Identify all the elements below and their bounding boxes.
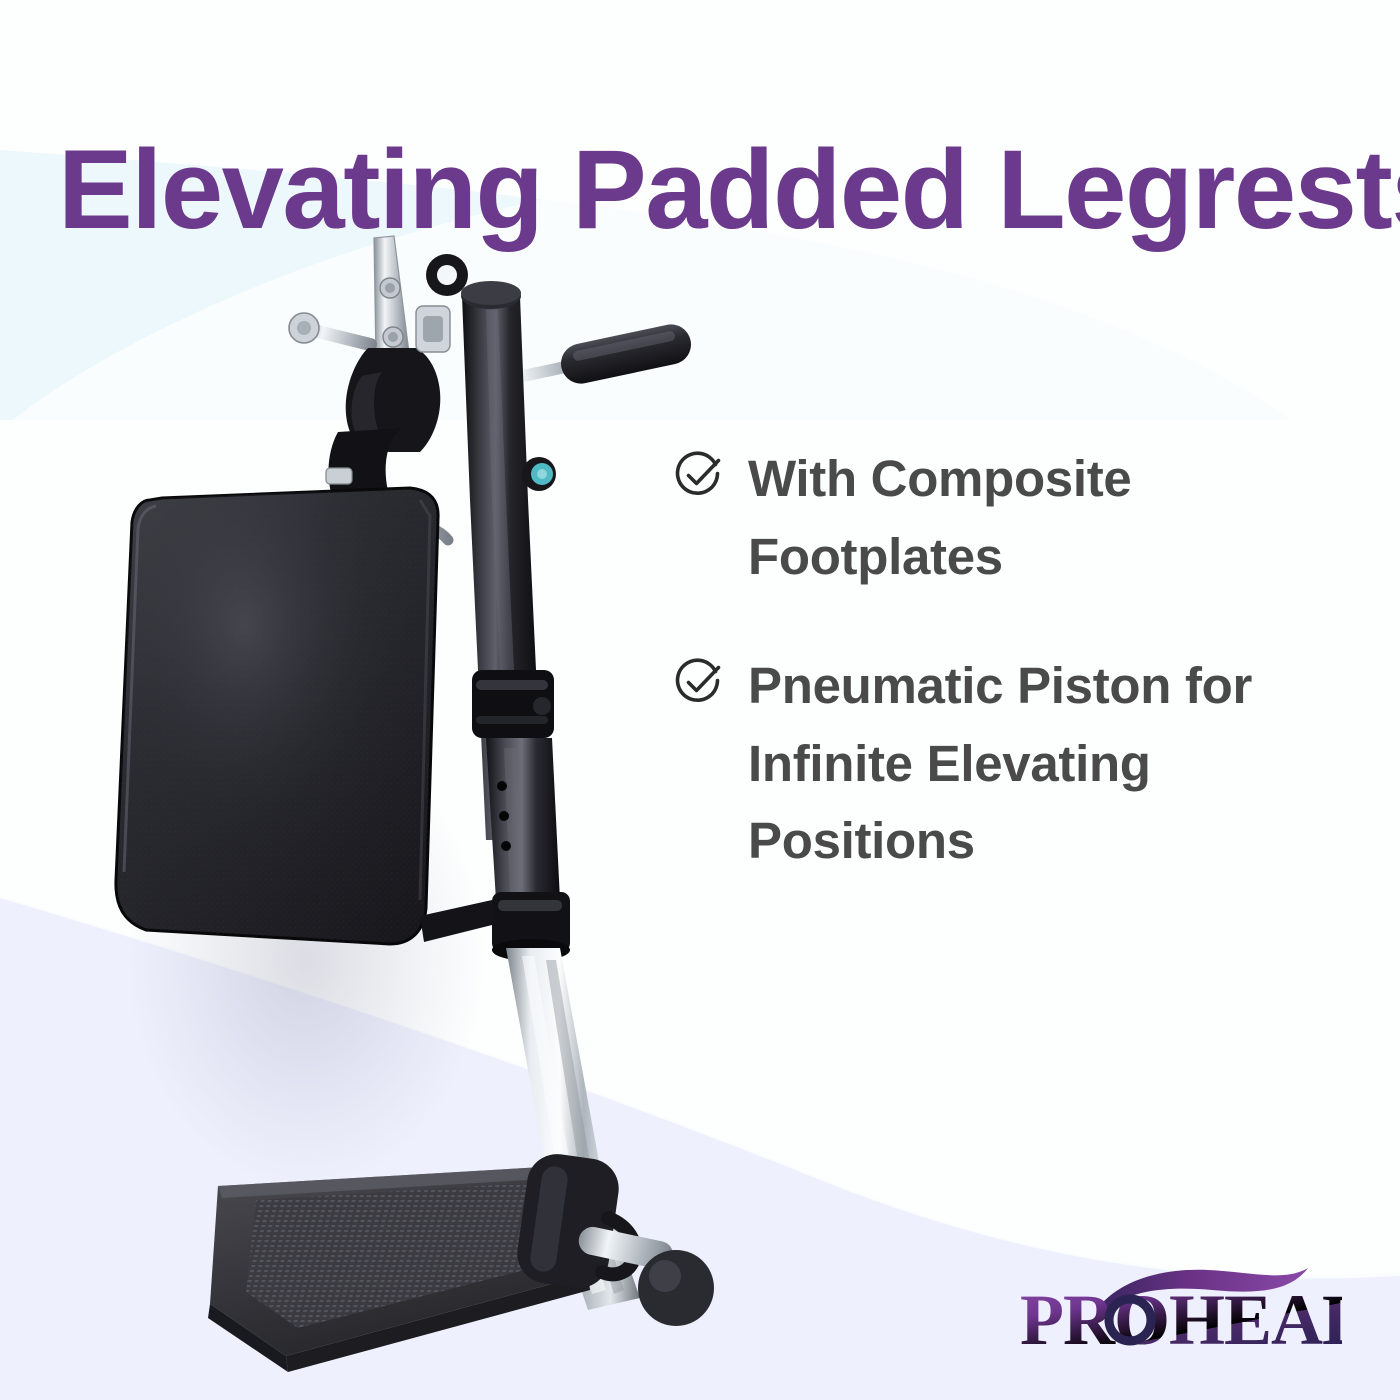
page-title: Elevating Padded Legrests: [58, 133, 1358, 247]
feature-label: Pneumatic Piston for Infinite Elevating …: [748, 647, 1372, 880]
list-item: Pneumatic Piston for Infinite Elevating …: [672, 647, 1372, 880]
lower-sleeve: [486, 738, 560, 900]
heel-loop-bracket: [513, 1150, 634, 1292]
check-circle-icon: [672, 657, 724, 709]
list-item: With Composite Footplates: [672, 440, 1372, 595]
brand-logo: PROHEAL: [1012, 1252, 1342, 1364]
product-marketing-banner: Elevating Padded Legrests: [0, 0, 1400, 1400]
feature-label: With Composite Footplates: [748, 440, 1372, 595]
check-circle-icon: [672, 450, 724, 502]
clamp-collar: [472, 670, 554, 738]
calf-pad: [116, 488, 438, 944]
logo-wordmark: PROHEAL: [1020, 1280, 1342, 1360]
feature-list: With Composite Footplates Pneumatic Pist…: [672, 440, 1372, 932]
product-image: [90, 200, 750, 1390]
